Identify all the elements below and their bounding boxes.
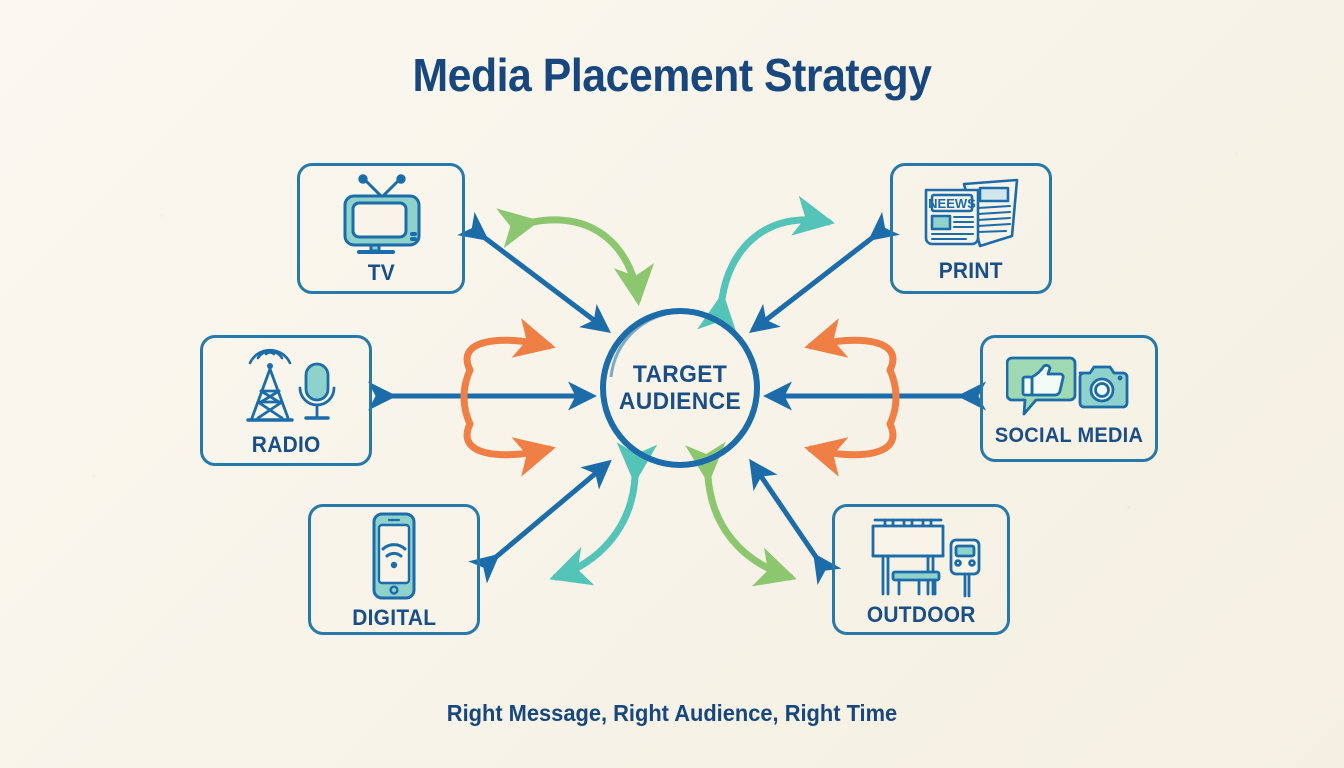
smartphone-wifi-icon — [361, 511, 427, 603]
arrow-print-center — [753, 238, 872, 330]
node-label-digital: DIGITAL — [352, 605, 436, 631]
television-icon — [329, 174, 433, 258]
node-label-radio: RADIO — [252, 432, 321, 458]
hub-line-1: TARGET — [633, 361, 727, 388]
outdoor-icon-wrap — [857, 514, 985, 600]
curve-left-lower — [467, 424, 549, 455]
target-audience-hub[interactable]: TARGET AUDIENCE — [597, 305, 763, 471]
curve-bottom-left — [556, 477, 635, 577]
node-label-outdoor: OUTDOOR — [867, 602, 976, 628]
radio-icon-wrap — [230, 346, 342, 430]
media-node-social-media[interactable]: SOCIAL MEDIA — [980, 335, 1158, 462]
curve-left-upper — [467, 340, 549, 370]
media-node-print[interactable]: NEEWS PRINT — [890, 163, 1052, 294]
target-audience-label: TARGET AUDIENCE — [601, 305, 759, 471]
node-label-tv: TV — [367, 260, 394, 286]
print-icon-wrap: NEEWS — [918, 176, 1024, 256]
arrow-outdoor-center — [752, 463, 816, 557]
arrow-digital-center — [496, 463, 608, 557]
tv-icon-wrap — [329, 174, 433, 258]
newspaper-icon: NEEWS — [918, 176, 1024, 256]
arrow-tv-center — [485, 238, 607, 330]
digital-icon-wrap — [361, 511, 427, 603]
media-node-tv[interactable]: TV — [297, 163, 465, 294]
newspaper-masthead-text: NEEWS — [928, 196, 976, 211]
curve-right-lower — [811, 424, 893, 455]
media-node-digital[interactable]: DIGITAL — [308, 504, 480, 635]
infographic-canvas: Media Placement Strategy — [0, 0, 1344, 768]
thumbs-up-camera-icon — [1006, 352, 1132, 422]
curve-bottom-right — [708, 477, 790, 577]
node-label-social-media: SOCIAL MEDIA — [995, 424, 1143, 448]
node-label-print: PRINT — [939, 258, 1003, 284]
media-node-outdoor[interactable]: OUTDOOR — [832, 504, 1010, 635]
hub-line-2: AUDIENCE — [619, 388, 741, 415]
curve-right-upper — [811, 340, 893, 370]
billboard-bus-stop-icon — [857, 514, 985, 600]
footer-tagline: Right Message, Right Audience, Right Tim… — [34, 700, 1311, 727]
radio-tower-microphone-icon — [230, 346, 342, 430]
social-icon-wrap — [1006, 352, 1132, 422]
media-node-radio[interactable]: RADIO — [200, 335, 372, 466]
